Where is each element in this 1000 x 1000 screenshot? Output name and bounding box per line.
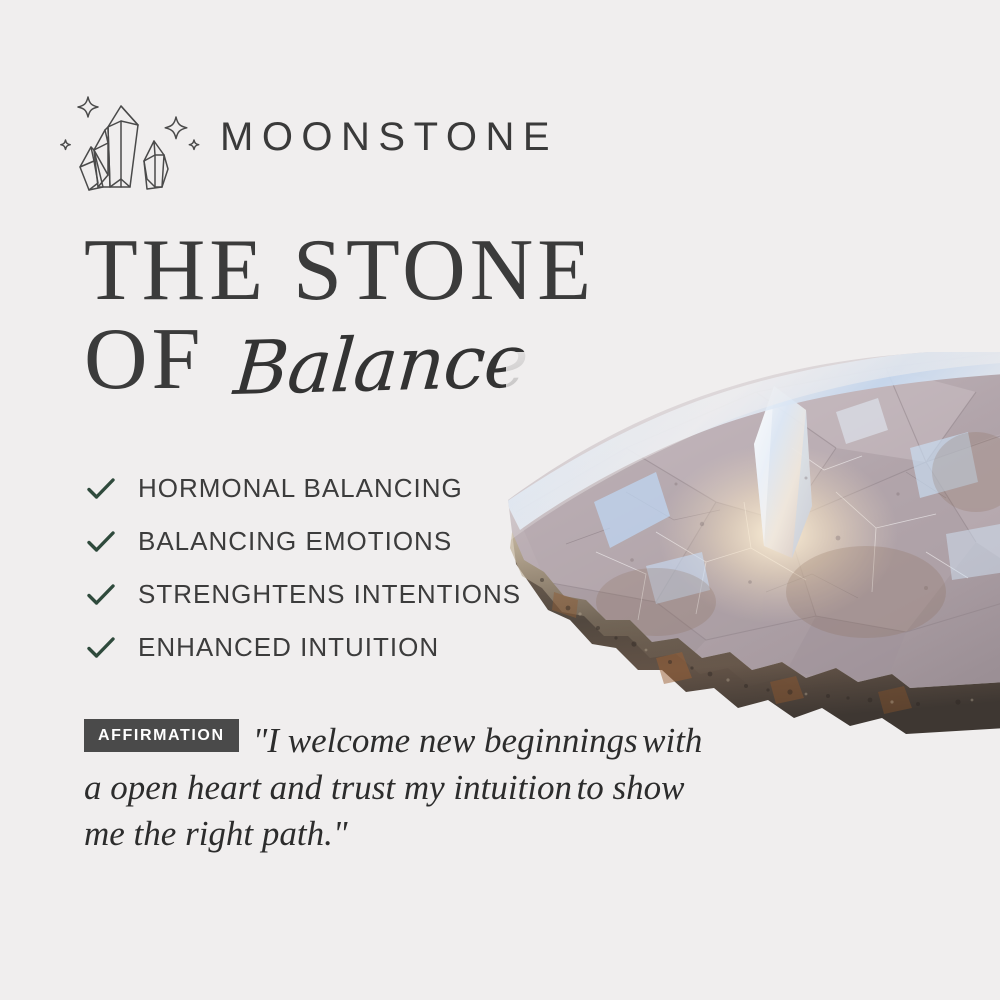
check-icon xyxy=(86,582,138,608)
check-icon xyxy=(86,476,138,502)
list-item: BALANCING EMOTIONS xyxy=(86,515,556,568)
headline-line-1: THE STONE xyxy=(84,228,724,313)
crystal-cluster-icon xyxy=(58,83,208,191)
headline-script-word: Balance xyxy=(231,319,531,413)
moonstone-slab-photo xyxy=(506,352,1000,752)
brand-name: MOONSTONE xyxy=(220,115,558,160)
list-item-label: HORMONAL BALANCING xyxy=(138,473,463,504)
list-item-label: BALANCING EMOTIONS xyxy=(138,526,452,557)
check-icon xyxy=(86,635,138,661)
list-item-label: ENHANCED INTUITION xyxy=(138,632,439,663)
status-badge: AFFIRMATION xyxy=(84,719,239,752)
check-icon xyxy=(86,529,138,555)
sparkle-icon xyxy=(165,117,187,139)
list-item: STRENGHTENS INTENTIONS xyxy=(86,568,556,621)
headline-of: OF xyxy=(84,317,205,402)
brand-header: MOONSTONE xyxy=(58,82,678,192)
list-item: ENHANCED INTUITION xyxy=(86,621,556,674)
sparkle-icon xyxy=(61,140,70,149)
sparkle-icon xyxy=(78,97,98,117)
benefits-list: HORMONAL BALANCING BALANCING EMOTIONS ST… xyxy=(86,462,556,674)
list-item-label: STRENGHTENS INTENTIONS xyxy=(138,579,521,610)
poster-canvas: MOONSTONE THE STONE OF Balance HORMONAL … xyxy=(0,0,1000,1000)
sparkle-icon xyxy=(189,140,198,149)
list-item: HORMONAL BALANCING xyxy=(86,462,556,515)
